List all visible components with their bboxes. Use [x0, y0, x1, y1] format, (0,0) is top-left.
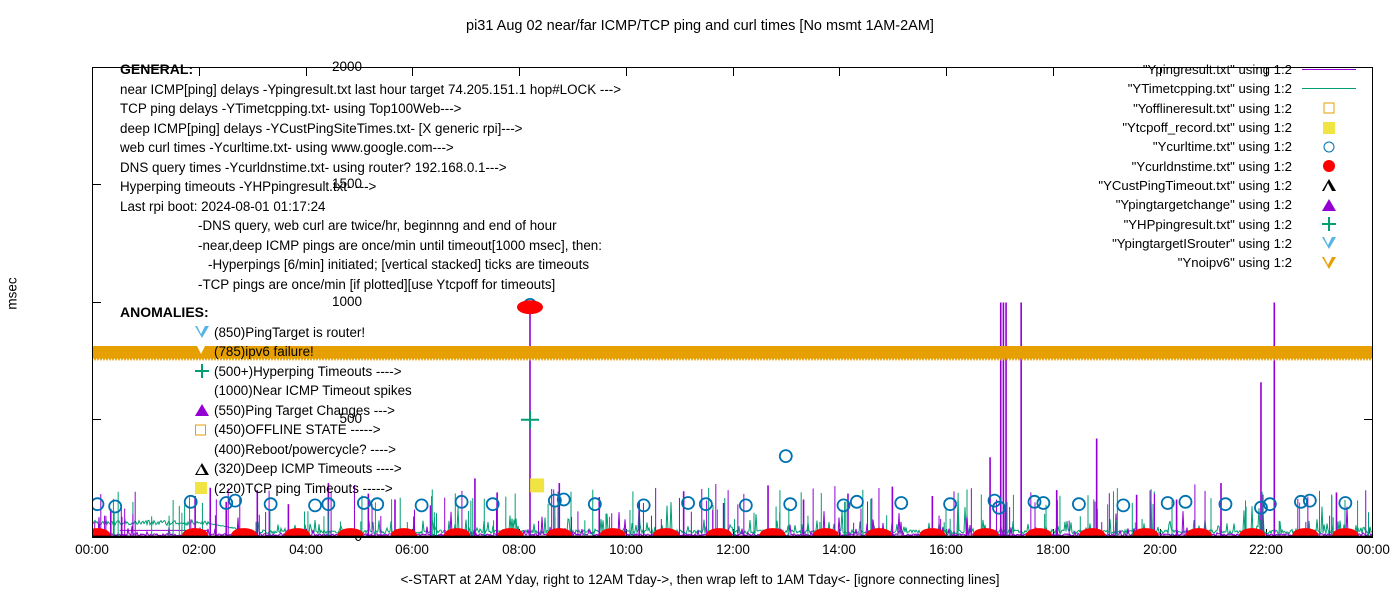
- general-line-2: deep ICMP[ping] delays -YCustPingSiteTim…: [120, 119, 621, 139]
- legend: "Ypingresult.txt" using 1:2 "YTimetcppin…: [930, 60, 1360, 272]
- square-filled-yellow-icon: [192, 479, 214, 499]
- no-icon: [192, 440, 214, 460]
- legend-label: "Yofflineresult.txt" using 1:2: [1133, 101, 1298, 116]
- legend-item-ytimetcpping: "YTimetcpping.txt" using 1:2: [930, 79, 1360, 98]
- anomaly-row-router: (850)PingTarget is router!: [120, 323, 412, 343]
- y-axis-label: msec: [5, 264, 20, 324]
- x-tick-0200: 02:00: [164, 543, 234, 557]
- x-tick-0600: 06:00: [377, 543, 447, 557]
- anomaly-row-tcpping: (220)TCP ping Timeouts ----->: [120, 479, 412, 499]
- general-line-6: Last rpi boot: 2024-08-01 01:17:24: [120, 197, 621, 217]
- x-tick-1800: 18:00: [1018, 543, 1088, 557]
- square-open-orange-icon: [1298, 99, 1360, 118]
- legend-item-ypingtargetchange: "Ypingtargetchange" using 1:2: [930, 195, 1360, 214]
- triangle-open-black-icon: [192, 459, 214, 479]
- legend-label: "YTimetcpping.txt" using 1:2: [1128, 81, 1298, 96]
- circle-open-blue-icon: [1298, 137, 1360, 156]
- anomaly-row-targetchange: (550)Ping Target Changes --->: [120, 401, 412, 421]
- legend-item-ycurltime: "Ycurltime.txt" using 1:2: [930, 137, 1360, 156]
- general-note-2: -Hyperpings [6/min] initiated; [vertical…: [120, 255, 621, 275]
- anomaly-row-ipv6: (785)ipv6 failure!: [120, 342, 412, 362]
- anomaly-row-nearicmp: (1000)Near ICMP Timeout spikes: [120, 381, 412, 401]
- x-tick-1400: 14:00: [804, 543, 874, 557]
- anomalies-annotations: ANOMALIES: (850)PingTarget is router! (7…: [120, 303, 412, 498]
- x-tick-1200: 12:00: [698, 543, 768, 557]
- general-note-3: -TCP pings are once/min [if plotted][use…: [120, 275, 621, 295]
- legend-item-ycustpingtimeout: "YCustPingTimeout.txt" using 1:2: [930, 176, 1360, 195]
- anomaly-label: (400)Reboot/powercycle? ---->: [214, 440, 396, 460]
- legend-item-ypingtargetisrouter: "YpingtargetISrouter" using 1:2: [930, 234, 1360, 253]
- legend-label: "Ynoipv6" using 1:2: [1178, 255, 1298, 270]
- legend-label: "Ycurltime.txt" using 1:2: [1153, 139, 1298, 154]
- legend-item-ypingresult: "Ypingresult.txt" using 1:2: [930, 60, 1360, 79]
- dtriangle-open-orange-icon: [1298, 253, 1360, 272]
- anomaly-label: (450)OFFLINE STATE ----->: [214, 420, 381, 440]
- x-tick-1600: 16:00: [911, 543, 981, 557]
- x-tick-0000a: 00:00: [57, 543, 127, 557]
- legend-label: "Ypingresult.txt" using 1:2: [1143, 62, 1298, 77]
- x-tick-1000: 10:00: [591, 543, 661, 557]
- anomaly-label: (550)Ping Target Changes --->: [214, 401, 395, 421]
- dtriangle-open-orange-icon: [192, 342, 214, 362]
- square-open-orange-icon: [192, 420, 214, 440]
- chart-title: pi31 Aug 02 near/far ICMP/TCP ping and c…: [0, 18, 1400, 34]
- dtriangle-open-blue-icon: [192, 323, 214, 343]
- legend-label: "YCustPingTimeout.txt" using 1:2: [1098, 178, 1298, 193]
- anomaly-label: (1000)Near ICMP Timeout spikes: [214, 381, 412, 401]
- general-line-0: near ICMP[ping] delays -Ypingresult.txt …: [120, 80, 621, 100]
- legend-label: "YHPpingresult.txt" using 1:2: [1124, 217, 1298, 232]
- anomaly-row-offline: (450)OFFLINE STATE ----->: [120, 420, 412, 440]
- general-annotations: GENERAL: near ICMP[ping] delays -Ypingre…: [120, 60, 621, 294]
- line-teal-icon: [1298, 79, 1360, 98]
- no-icon: [192, 381, 214, 401]
- legend-item-ynoipv6: "Ynoipv6" using 1:2: [930, 253, 1360, 272]
- anomaly-label: (850)PingTarget is router!: [214, 323, 365, 343]
- x-axis-caption: <-START at 2AM Yday, right to 12AM Tday-…: [0, 572, 1400, 587]
- circle-filled-red-icon: [1298, 157, 1360, 176]
- x-tick-0000b: 00:00: [1338, 543, 1400, 557]
- chart-page: pi31 Aug 02 near/far ICMP/TCP ping and c…: [0, 0, 1400, 600]
- general-line-4: DNS query times -Ycurldnstime.txt- using…: [120, 158, 621, 178]
- anomaly-row-deepicmp: (320)Deep ICMP Timeouts ---->: [120, 459, 412, 479]
- legend-item-yhppingresult: "YHPpingresult.txt" using 1:2: [930, 214, 1360, 233]
- anomaly-label: (785)ipv6 failure!: [214, 342, 314, 362]
- square-filled-yellow-icon: [1298, 118, 1360, 137]
- line-purple-icon: [1298, 60, 1360, 79]
- anomaly-label: (220)TCP ping Timeouts ----->: [214, 479, 393, 499]
- anomaly-label: (320)Deep ICMP Timeouts ---->: [214, 459, 402, 479]
- general-note-1: -near,deep ICMP pings are once/min until…: [120, 236, 621, 256]
- dtriangle-open-blue-icon: [1298, 234, 1360, 253]
- triangle-filled-purple-icon: [192, 401, 214, 421]
- anomaly-row-reboot: (400)Reboot/powercycle? ---->: [120, 440, 412, 460]
- legend-item-yofflineresult: "Yofflineresult.txt" using 1:2: [930, 99, 1360, 118]
- triangle-filled-purple-icon: [1298, 195, 1360, 214]
- legend-item-ytcpoff: "Ytcpoff_record.txt" using 1:2: [930, 118, 1360, 137]
- anomaly-label: (500+)Hyperping Timeouts ---->: [214, 362, 402, 382]
- legend-label: "YpingtargetISrouter" using 1:2: [1112, 236, 1298, 251]
- general-line-1: TCP ping delays -YTimetcpping.txt- using…: [120, 99, 621, 119]
- plus-teal-icon: [1298, 215, 1360, 234]
- legend-item-ycurldnstime: "Ycurldnstime.txt" using 1:2: [930, 156, 1360, 175]
- anomalies-header: ANOMALIES:: [120, 303, 412, 323]
- general-line-5: Hyperping timeouts -YHPpingresult.txt- -…: [120, 177, 621, 197]
- x-tick-0400: 04:00: [271, 543, 341, 557]
- x-tick-2000: 20:00: [1125, 543, 1195, 557]
- anomaly-row-hyperping: (500+)Hyperping Timeouts ---->: [120, 362, 412, 382]
- general-line-3: web curl times -Ycurltime.txt- using www…: [120, 138, 621, 158]
- legend-label: "Ytcpoff_record.txt" using 1:2: [1122, 120, 1298, 135]
- plus-teal-icon: [192, 362, 214, 382]
- triangle-open-black-icon: [1298, 176, 1360, 195]
- general-note-0: -DNS query, web curl are twice/hr, begin…: [120, 216, 621, 236]
- x-tick-0800: 08:00: [484, 543, 554, 557]
- general-header: GENERAL:: [120, 60, 621, 80]
- legend-label: "Ycurldnstime.txt" using 1:2: [1132, 159, 1298, 174]
- legend-label: "Ypingtargetchange" using 1:2: [1116, 197, 1298, 212]
- x-tick-2200: 22:00: [1231, 543, 1301, 557]
